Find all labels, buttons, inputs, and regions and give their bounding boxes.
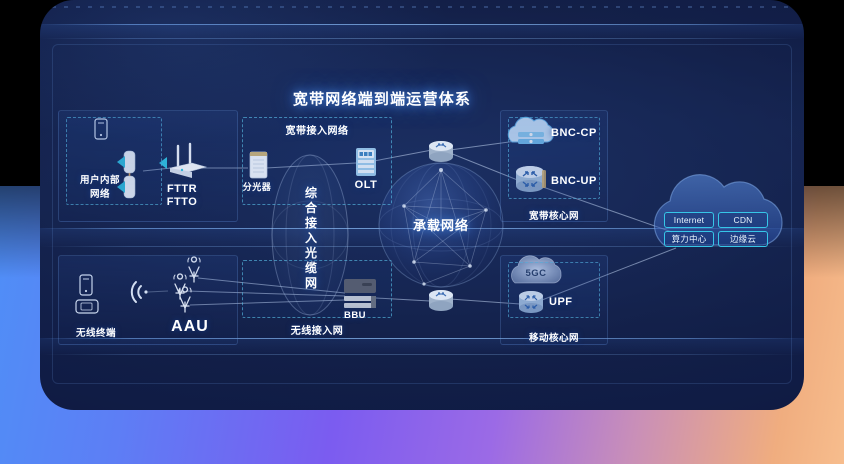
- label-fttr: FTTR: [167, 183, 197, 195]
- label-broadband-core: 宽带核心网: [529, 208, 579, 222]
- label-ftto: FTTO: [167, 196, 198, 208]
- label-user-internal-network-line1: 用户内部: [80, 172, 120, 186]
- label-upf: UPF: [549, 296, 573, 308]
- label-wireless-access: 无线接入网: [291, 322, 344, 337]
- label-bnc-up: BNC-UP: [551, 175, 597, 187]
- label-bearer-network: 承载网络: [413, 215, 469, 234]
- label-wireless-terminal: 无线终端: [76, 325, 116, 339]
- vertical-label-char: 缆: [301, 261, 321, 276]
- chip-internet[interactable]: Internet: [664, 212, 714, 228]
- vertical-label-char: 合: [301, 201, 321, 216]
- vertical-label-char: 综: [301, 186, 321, 201]
- group-frame-user: [58, 110, 238, 222]
- label-olt: OLT: [355, 179, 378, 191]
- vertical-label-char: 光: [301, 246, 321, 261]
- vertical-label-char: 入: [301, 231, 321, 246]
- cloud-services-group: Internet CDN 算力中心 边缘云: [636, 196, 818, 278]
- label-splitter: 分光器: [243, 180, 272, 193]
- label-user-internal-network-line2: 网络: [90, 186, 110, 200]
- label-5gc: 5GC: [525, 268, 546, 279]
- label-broadband-access: 宽带接入网络: [286, 122, 349, 137]
- vertical-label-char: 接: [301, 216, 321, 231]
- label-mobile-core: 移动核心网: [529, 330, 579, 344]
- label-integrated-access-optical-cable-network: 综合接入光缆网: [301, 186, 321, 291]
- diagram-content: 宽带网络端到端运营体系 宽带接入网络 无线接入网 宽带核心网 移动核心网 用户内…: [0, 0, 844, 464]
- diagram-stage: 宽带网络端到端运营体系 宽带接入网络 无线接入网 宽带核心网 移动核心网 用户内…: [0, 0, 844, 464]
- label-aau: AAU: [171, 318, 209, 336]
- chip-edge-cloud[interactable]: 边缘云: [718, 231, 768, 247]
- chip-computing-center[interactable]: 算力中心: [664, 231, 714, 247]
- core-router-bottom-icon: [429, 290, 453, 311]
- chip-cdn[interactable]: CDN: [718, 212, 768, 228]
- label-bbu: BBU: [344, 310, 366, 321]
- page-title: 宽带网络端到端运营体系: [293, 88, 471, 109]
- label-bnc-cp: BNC-CP: [551, 127, 597, 139]
- vertical-label-char: 网: [301, 276, 321, 291]
- core-router-top-icon: [429, 141, 453, 162]
